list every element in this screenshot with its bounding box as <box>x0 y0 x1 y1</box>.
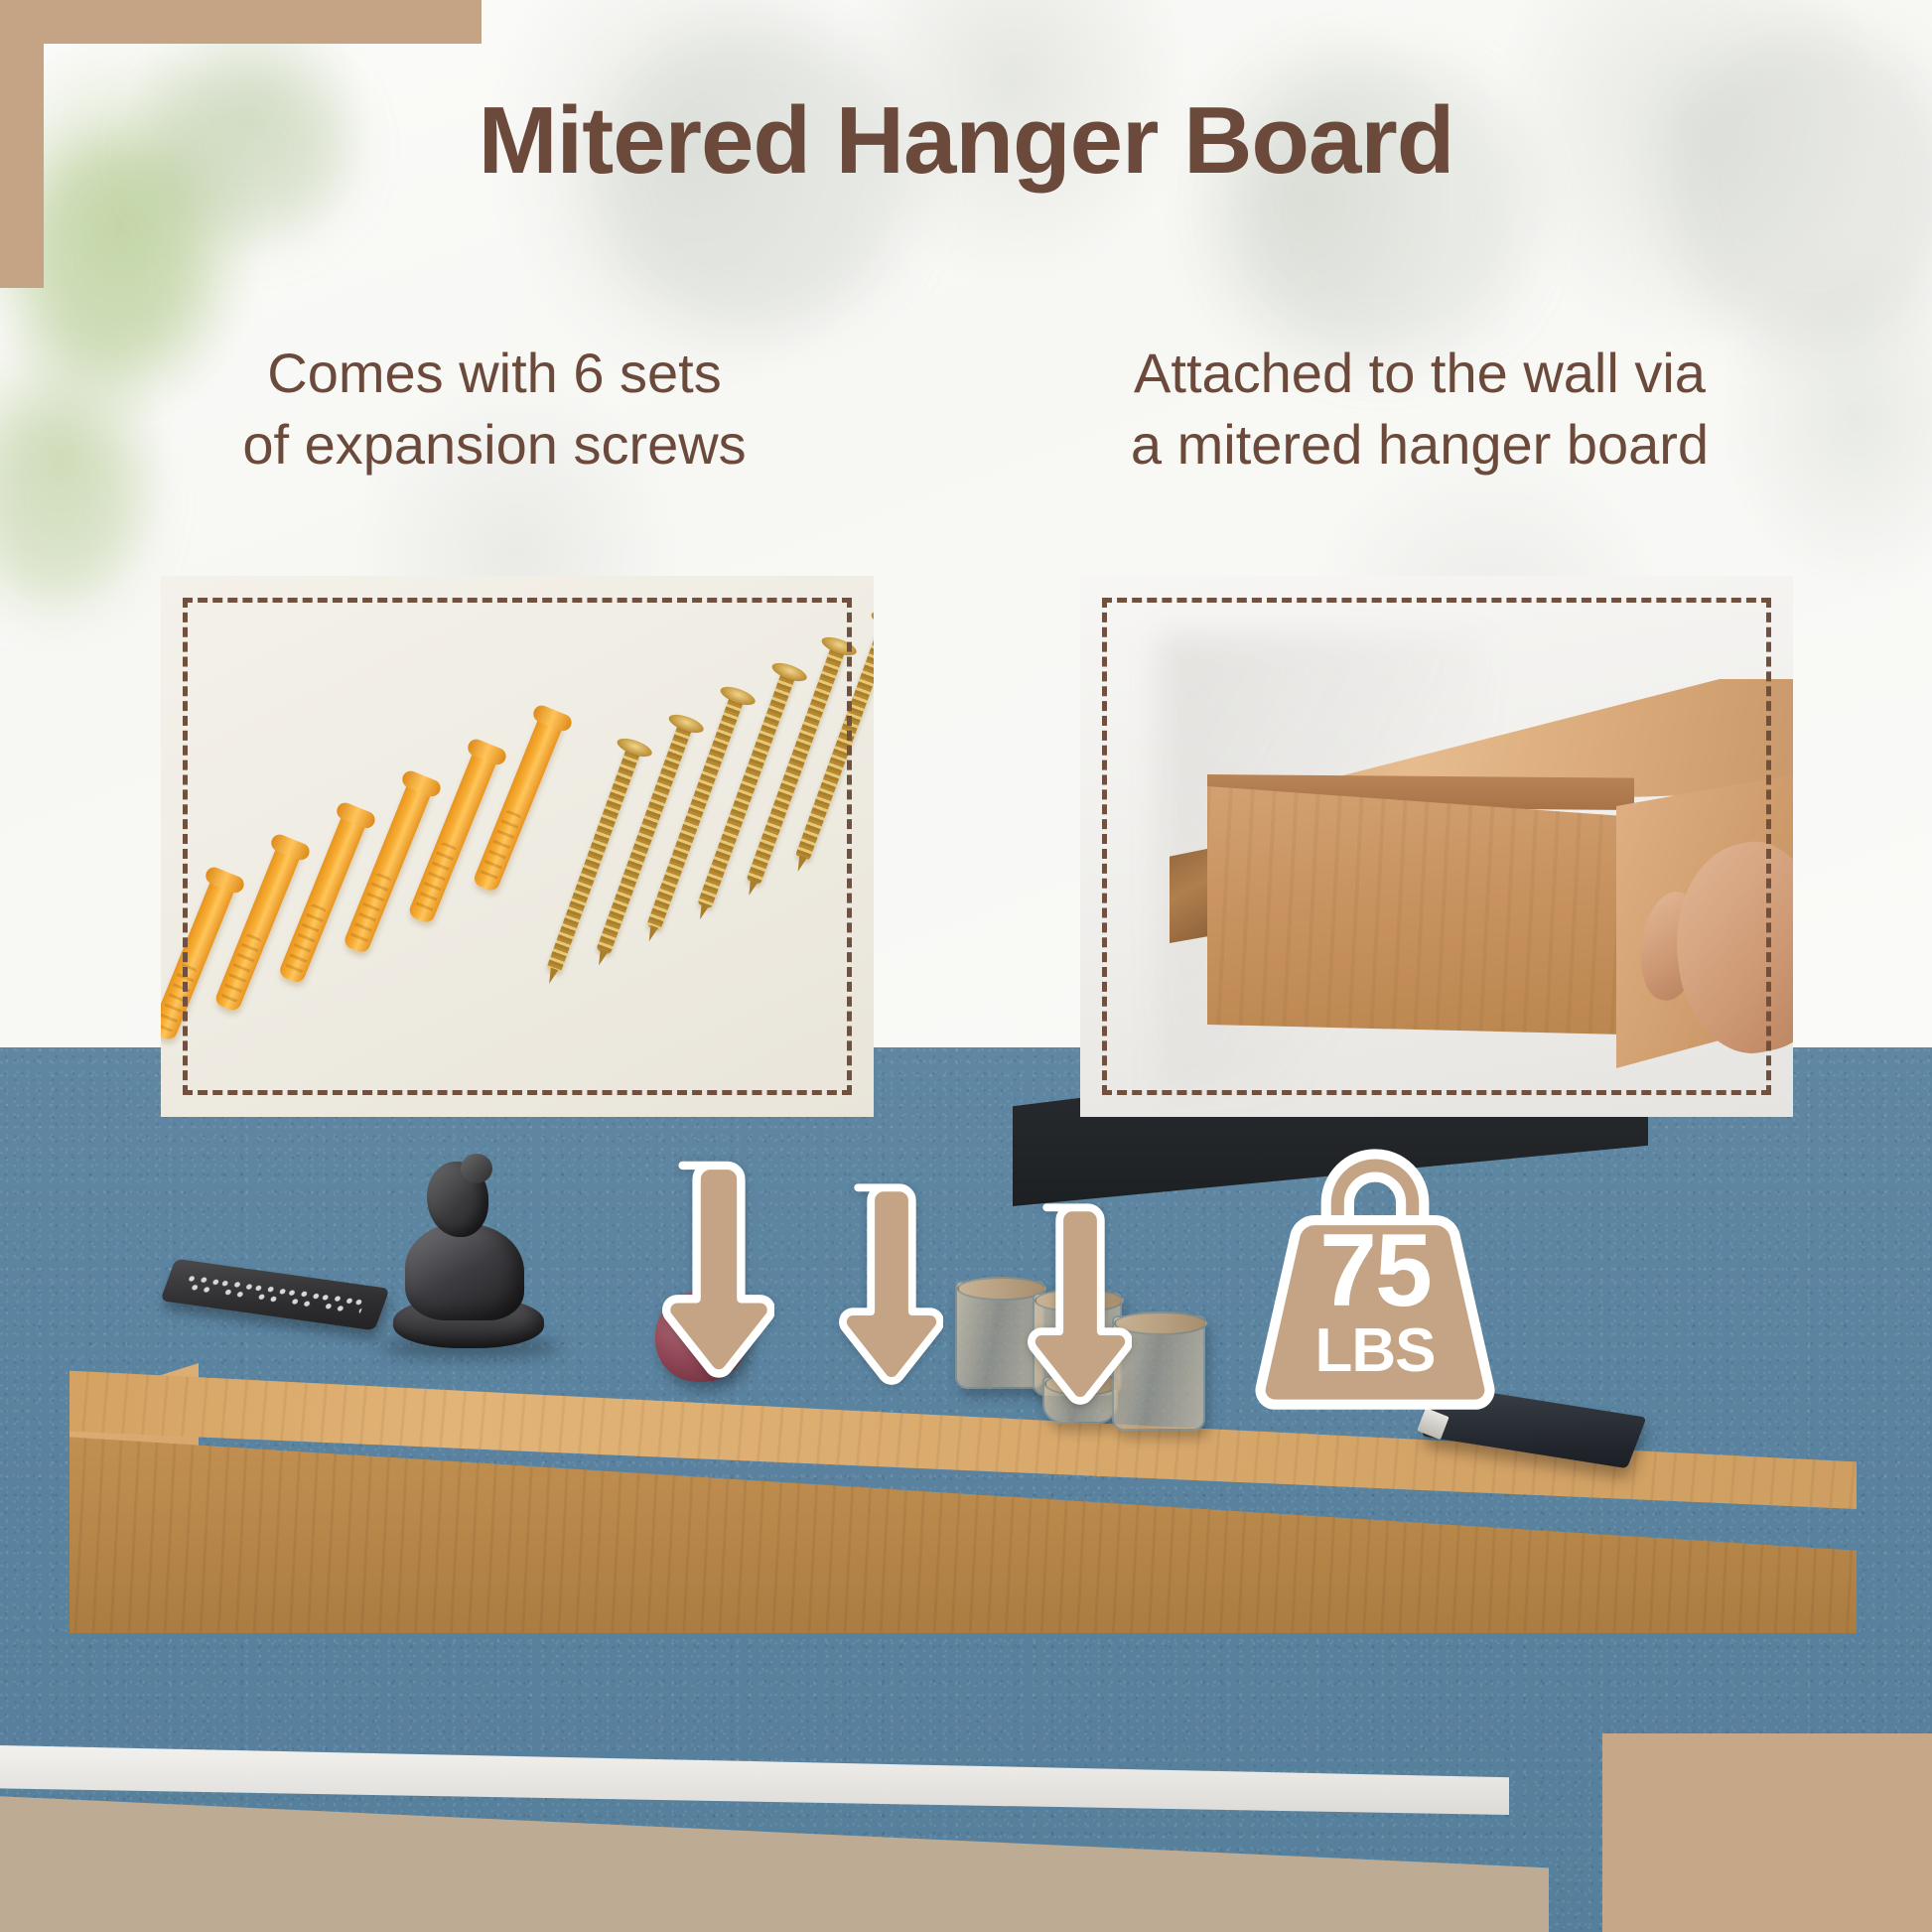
wall-anchor-icon <box>343 777 434 954</box>
feature-caption-hanger-line1: Attached to the wall via <box>993 338 1847 409</box>
wall-anchor-icon <box>407 746 499 924</box>
wall-anchor-icon <box>161 874 237 1041</box>
foliage-shadow-icon <box>0 397 139 606</box>
feature-caption-screws-line2: of expansion screws <box>147 409 842 481</box>
page-title: Mitered Hanger Board <box>0 91 1932 192</box>
wall-anchor-icon <box>472 712 565 893</box>
feature-caption-screws-line1: Comes with 6 sets <box>147 338 842 409</box>
corner-decor-bottom-right <box>1602 1733 1932 1932</box>
corner-decor-top-left <box>0 0 482 44</box>
poster-canvas: Mitered Hanger Board Comes with 6 sets o… <box>0 0 1932 1932</box>
wall-anchor-icon <box>213 841 303 1013</box>
downward-arrow-icon <box>1003 1196 1132 1410</box>
hanger-board-photo <box>1080 576 1793 1117</box>
feature-caption-hanger: Attached to the wall via a mitered hange… <box>993 338 1847 480</box>
downward-arrow-icon <box>814 1176 943 1390</box>
expansion-screws-photo <box>161 576 874 1117</box>
weight-capacity-badge: 75 LBS <box>1231 1137 1519 1425</box>
wall-anchor-icon <box>278 809 369 985</box>
statue-torso <box>405 1223 524 1320</box>
feature-caption-screws: Comes with 6 sets of expansion screws <box>147 338 842 480</box>
shelf-board-front-face <box>1207 786 1624 1035</box>
meditating-statue <box>389 1162 548 1345</box>
statue-hair-bun <box>461 1154 492 1183</box>
screw-icon <box>546 744 641 973</box>
downward-arrow-icon <box>635 1157 774 1380</box>
feature-caption-hanger-line2: a mitered hanger board <box>993 409 1847 481</box>
